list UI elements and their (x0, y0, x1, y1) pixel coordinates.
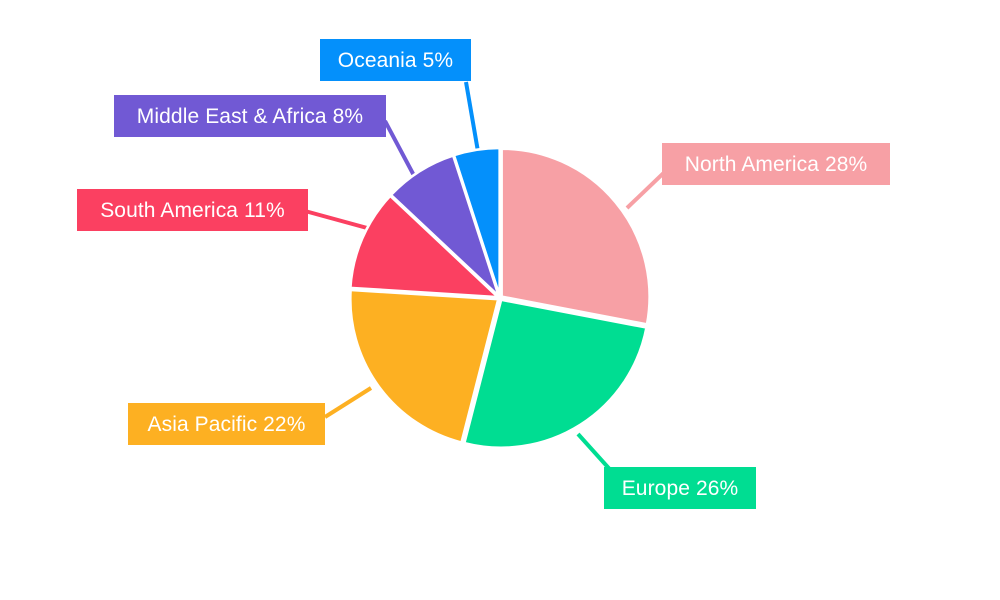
pie-label-asia-pacific-text: Asia Pacific 22% (147, 414, 305, 435)
pie-label-europe-text: Europe 26% (622, 478, 739, 499)
pie-label-europe[interactable]: Europe 26% (604, 467, 756, 509)
pie-label-middle-east-africa[interactable]: Middle East & Africa 8% (114, 95, 386, 137)
pie-label-asia-pacific[interactable]: Asia Pacific 22% (128, 403, 325, 445)
pie-label-north-america-text: North America 28% (685, 154, 868, 175)
pie-label-south-america[interactable]: South America 11% (77, 189, 308, 231)
pie-label-south-america-text: South America 11% (100, 200, 285, 221)
pie-slice-north-america[interactable] (502, 149, 650, 325)
pie-chart-figure: North America 28% Europe 26% Asia Pacifi… (0, 0, 1000, 600)
pie-label-middle-east-africa-text: Middle East & Africa 8% (137, 106, 363, 127)
pie-label-oceania[interactable]: Oceania 5% (320, 39, 471, 81)
pie-label-north-america[interactable]: North America 28% (662, 143, 890, 185)
pie-label-oceania-text: Oceania 5% (338, 50, 453, 71)
pie-slices-group (350, 148, 649, 448)
leader-line-asia-pacific (325, 388, 371, 417)
pie-chart-canvas (0, 0, 1000, 600)
